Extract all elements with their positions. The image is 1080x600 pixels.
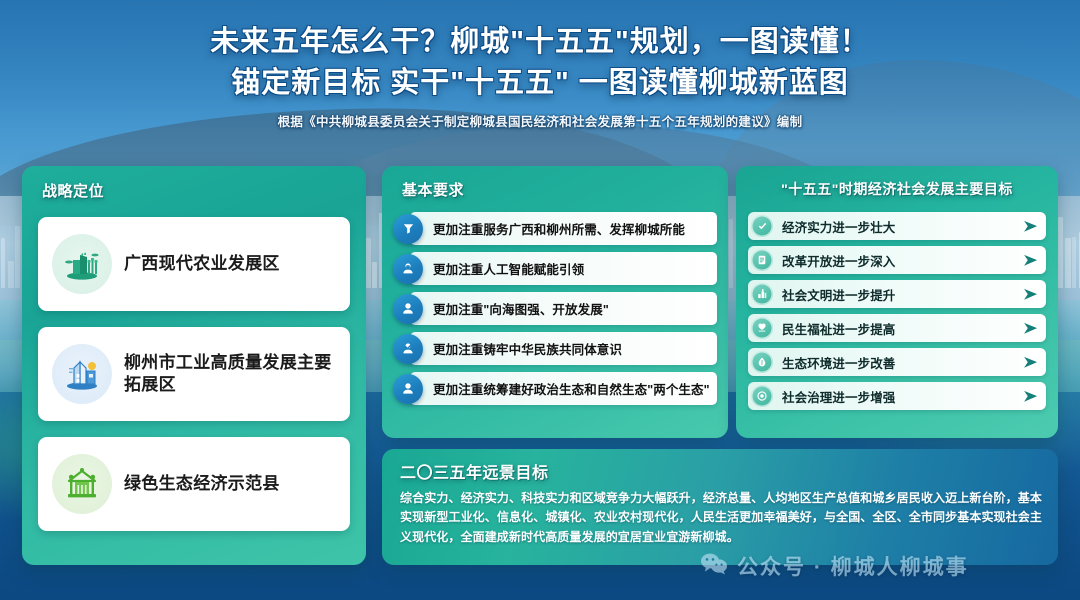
person-icon — [393, 374, 423, 404]
chevron-right-icon[interactable] — [1022, 322, 1040, 335]
requirement-item[interactable]: 更加注重统筹建好政治生态和自然生态"两个生态" — [393, 372, 717, 405]
requirement-item[interactable]: 更加注重服务广西和柳州所需、发挥柳城所能 — [393, 212, 717, 245]
strategy-card-label: 广西现代农业发展区 — [124, 253, 280, 275]
chevron-right-icon[interactable] — [1022, 254, 1040, 267]
watermark: 公众号 · 柳城人柳城事 — [700, 551, 969, 581]
person-download-icon — [393, 254, 423, 284]
requirement-label: 更加注重服务广西和柳州所需、发挥柳城所能 — [433, 219, 685, 238]
goal-label: 社会治理进一步增强 — [782, 387, 1022, 406]
wechat-icon — [700, 552, 728, 581]
main-goals-panel: "十五五"时期经济社会发展主要目标 经济实力进一步壮大 改革开放进一步深入 — [736, 166, 1058, 438]
requirement-label: 更加注重"向海图强、开放发展" — [433, 299, 609, 318]
header-subtitle: 根据《中共柳城县委员会关于制定柳城县国民经济和社会发展第十五个五年规划的建议》编… — [0, 111, 1080, 130]
requirement-item[interactable]: 更加注重人工智能赋能引领 — [393, 252, 717, 285]
goal-item[interactable]: 生态环境进一步改善 — [748, 348, 1046, 376]
chart-bars-icon — [751, 283, 773, 305]
requirements-list: 更加注重服务广西和柳州所需、发挥柳城所能 更加注重人工智能赋能引领 — [393, 212, 717, 405]
strategic-positioning-panel: 战略定位 广西现代农 — [22, 166, 366, 565]
requirement-label: 更加注重统筹建好政治生态和自然生态"两个生态" — [433, 379, 710, 398]
strategy-panel-title: 战略定位 — [42, 180, 366, 201]
leaf-drop-icon — [751, 351, 773, 373]
goal-label: 生态环境进一步改善 — [782, 353, 1022, 372]
requirements-panel-title: 基本要求 — [402, 179, 728, 200]
goal-label: 改革开放进一步深入 — [782, 251, 1022, 270]
vision-panel-body: 综合实力、经济实力、科技实力和区域竞争力大幅跃升，经济总量、人均地区生产总值和城… — [400, 489, 1042, 547]
heart-hand-icon — [751, 317, 773, 339]
chevron-right-icon[interactable] — [1022, 390, 1040, 403]
watermark-text: 公众号 · 柳城人柳城事 — [737, 551, 969, 581]
vision-panel-title: 二〇三五年远景目标 — [400, 459, 1058, 483]
strategy-card-list: 广西现代农业发展区 柳州市工业高质量发展主要拓展区 — [38, 217, 350, 531]
goal-item[interactable]: 社会文明进一步提升 — [748, 280, 1046, 308]
gear-circle-icon — [751, 385, 773, 407]
header-title-line1: 未来五年怎么干？柳城"十五五"规划，一图读懂！ — [0, 22, 1080, 63]
goal-item[interactable]: 改革开放进一步深入 — [748, 246, 1046, 274]
basic-requirements-panel: 基本要求 更加注重服务广西和柳州所需、发挥柳城所能 更加注重人工智能赋能引领 — [382, 166, 728, 438]
requirement-label: 更加注重人工智能赋能引领 — [433, 259, 584, 278]
person-check-icon — [393, 334, 423, 364]
strategy-card[interactable]: 柳州市工业高质量发展主要拓展区 — [38, 327, 350, 421]
document-icon — [751, 249, 773, 271]
goal-label: 民生福祉进一步提高 — [782, 319, 1022, 338]
person-icon — [393, 294, 423, 324]
header-title-line2: 锚定新目标 实干"十五五" 一图读懂柳城新蓝图 — [0, 63, 1080, 104]
goal-label: 社会文明进一步提升 — [782, 285, 1022, 304]
chevron-right-icon[interactable] — [1022, 356, 1040, 369]
check-circle-icon — [751, 215, 773, 237]
requirement-label: 更加注重铸牢中华民族共同体意识 — [433, 339, 622, 358]
header: 未来五年怎么干？柳城"十五五"规划，一图读懂！ 锚定新目标 实干"十五五" 一图… — [0, 0, 1080, 130]
goals-list: 经济实力进一步壮大 改革开放进一步深入 社会文明进一步提升 — [748, 212, 1046, 410]
goal-item[interactable]: 经济实力进一步壮大 — [748, 212, 1046, 240]
chevron-right-icon[interactable] — [1022, 288, 1040, 301]
funnel-icon — [393, 214, 423, 244]
requirement-item[interactable]: 更加注重"向海图强、开放发展" — [393, 292, 717, 325]
requirement-item[interactable]: 更加注重铸牢中华民族共同体意识 — [393, 332, 717, 365]
chevron-right-icon[interactable] — [1022, 220, 1040, 233]
green-pavilion-icon — [52, 454, 112, 514]
strategy-card-label: 柳州市工业高质量发展主要拓展区 — [124, 352, 336, 396]
goal-item[interactable]: 社会治理进一步增强 — [748, 382, 1046, 410]
vision-2035-panel: 二〇三五年远景目标 综合实力、经济实力、科技实力和区域竞争力大幅跃升，经济总量、… — [382, 449, 1058, 565]
strategy-card[interactable]: 绿色生态经济示范县 — [38, 437, 350, 531]
industry-buildings-icon — [52, 344, 112, 404]
strategy-card[interactable]: 广西现代农业发展区 — [38, 217, 350, 311]
goal-label: 经济实力进一步壮大 — [782, 217, 1022, 236]
goals-panel-title: "十五五"时期经济社会发展主要目标 — [736, 179, 1058, 199]
farm-field-icon — [52, 234, 112, 294]
goal-item[interactable]: 民生福祉进一步提高 — [748, 314, 1046, 342]
strategy-card-label: 绿色生态经济示范县 — [124, 473, 280, 495]
